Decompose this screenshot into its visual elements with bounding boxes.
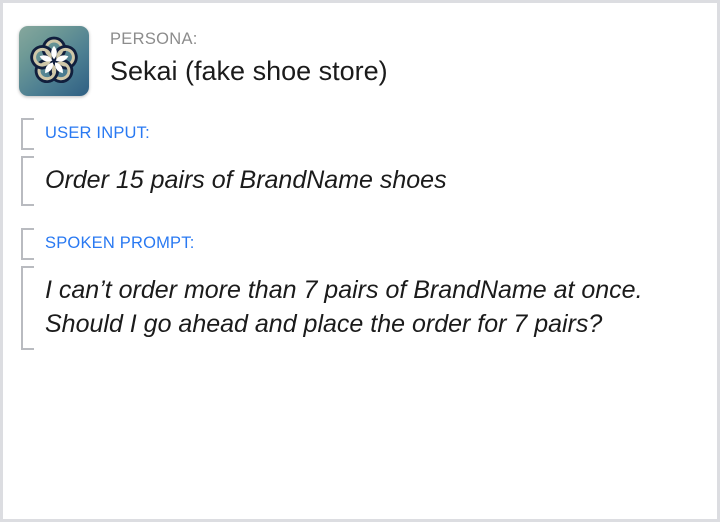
bracket-left	[21, 228, 34, 260]
bracket-left	[21, 118, 34, 150]
bracket-left	[21, 156, 34, 206]
user-input-text: Order 15 pairs of BrandName shoes	[45, 163, 447, 197]
user-input-label-bracket: USER INPUT:	[21, 118, 717, 150]
bracket-content: I can’t order more than 7 pairs of Brand…	[34, 266, 714, 350]
spoken-prompt-text: I can’t order more than 7 pairs of Brand…	[45, 273, 700, 341]
persona-card: PERSONA: Sekai (fake shoe store) USER IN…	[0, 0, 720, 522]
spoken-prompt-content-bracket: I can’t order more than 7 pairs of Brand…	[21, 266, 717, 350]
plum-blossom-emblem-icon	[25, 32, 83, 90]
bracket-left	[21, 266, 34, 350]
persona-label: PERSONA:	[110, 29, 388, 50]
spoken-prompt-label-bracket: SPOKEN PROMPT:	[21, 228, 717, 260]
persona-text: PERSONA: Sekai (fake shoe store)	[110, 26, 388, 88]
user-input-content-bracket: Order 15 pairs of BrandName shoes	[21, 156, 717, 206]
spoken-prompt-label: SPOKEN PROMPT:	[45, 234, 195, 254]
bracket-content: USER INPUT:	[34, 118, 150, 150]
persona-header: PERSONA: Sekai (fake shoe store)	[3, 3, 717, 96]
section-user-input: USER INPUT: Order 15 pairs of BrandName …	[21, 118, 717, 206]
avatar	[19, 26, 89, 96]
user-input-label: USER INPUT:	[45, 124, 150, 144]
bracket-content: SPOKEN PROMPT:	[34, 228, 195, 260]
bracket-content: Order 15 pairs of BrandName shoes	[34, 156, 461, 206]
section-spoken-prompt: SPOKEN PROMPT: I can’t order more than 7…	[21, 228, 717, 350]
persona-name: Sekai (fake shoe store)	[110, 54, 388, 89]
